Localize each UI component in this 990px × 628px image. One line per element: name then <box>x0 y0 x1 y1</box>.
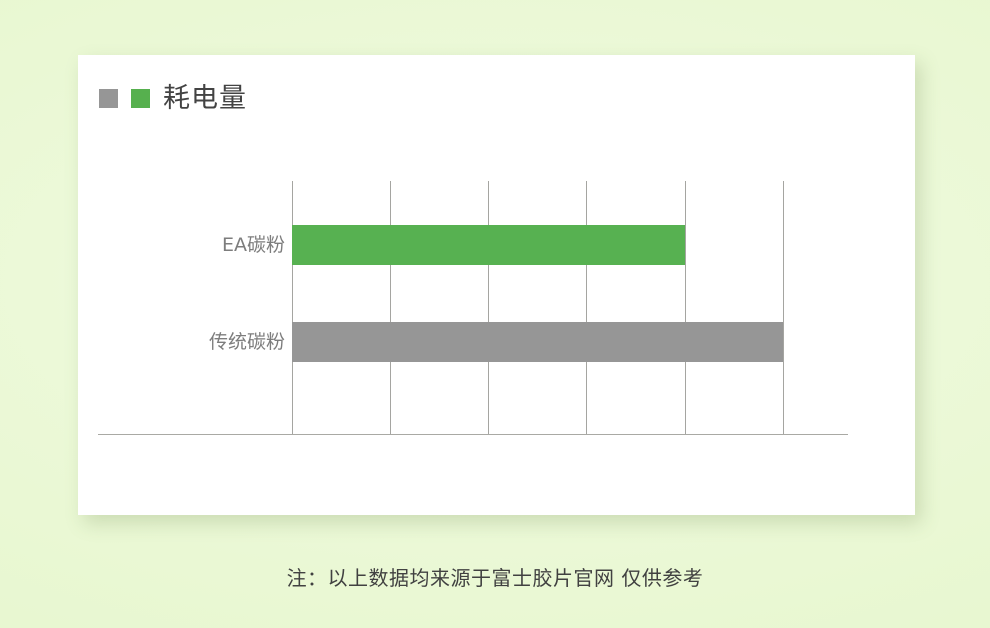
plot-area: EA碳粉 传统碳粉 <box>78 55 915 515</box>
gridline-1 <box>390 181 391 435</box>
footnote-text: 注：以上数据均来源于富士胶片官网 仅供参考 <box>0 568 990 588</box>
gridline-3 <box>586 181 587 435</box>
bar-traditional-toner <box>292 322 783 362</box>
category-label-traditional: 传统碳粉 <box>85 333 285 352</box>
chart-card: 耗电量 EA碳粉 传统碳粉 <box>78 55 915 515</box>
gridline-2 <box>488 181 489 435</box>
gridline-0 <box>292 181 293 435</box>
bar-ea-toner <box>292 225 685 265</box>
category-axis-line <box>98 434 848 435</box>
gridline-5 <box>783 181 784 435</box>
category-label-ea: EA碳粉 <box>85 236 285 255</box>
gridline-4 <box>685 181 686 435</box>
